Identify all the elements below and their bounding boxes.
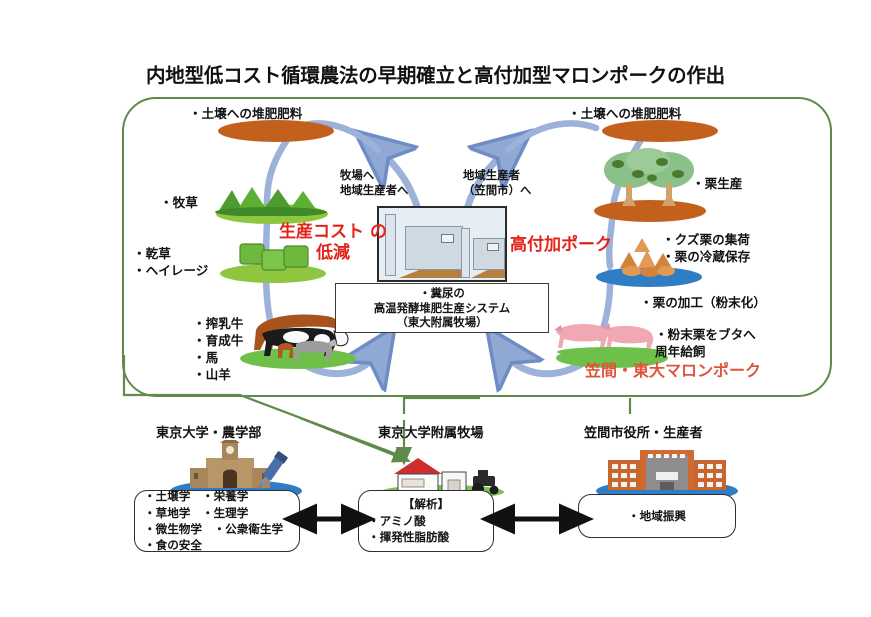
left-soil-label: ・土壌への堆肥肥料 (189, 106, 302, 123)
arrow-right-destination-label: 地域生産者 （笠間市）へ (463, 168, 531, 199)
diagram-canvas: 内地型低コスト循環農法の早期確立と高付加型マロンポークの作出 (0, 0, 871, 617)
arrow-left-destination-label: 牧場へ 地域生産者へ (340, 168, 408, 199)
value-added-pork-label: 高付加ポーク (497, 235, 625, 256)
cost-reduction-label: 生産コスト の低減 (278, 222, 388, 264)
chestnut-processing-label: ・栗の加工（粉末化） (640, 295, 766, 312)
chestnut-production-label: ・栗生産 (692, 176, 742, 193)
left-pasture-label: ・牧草 (160, 195, 198, 212)
left-livestock-label: ・搾乳牛 ・育成牛 ・馬 ・山羊 (193, 316, 243, 384)
maron-pork-brand-label: 笠間・東大マロンポーク (585, 361, 815, 381)
pig-feeding-label: ・粉末栗をブタへ 周年給飼 (655, 327, 756, 361)
left-hay-label: ・乾草 ・ヘイレージ (133, 246, 208, 280)
chestnut-collection-label: ・クズ栗の集荷 ・栗の冷蔵保存 (662, 232, 750, 266)
city-caption: 笠間市役所・生産者 (584, 422, 703, 441)
right-soil-label: ・土壌への堆肥肥料 (568, 106, 681, 123)
farm-caption: 東京大学附属牧場 (378, 422, 484, 441)
univ-caption: 東京大学・農学部 (156, 422, 262, 441)
